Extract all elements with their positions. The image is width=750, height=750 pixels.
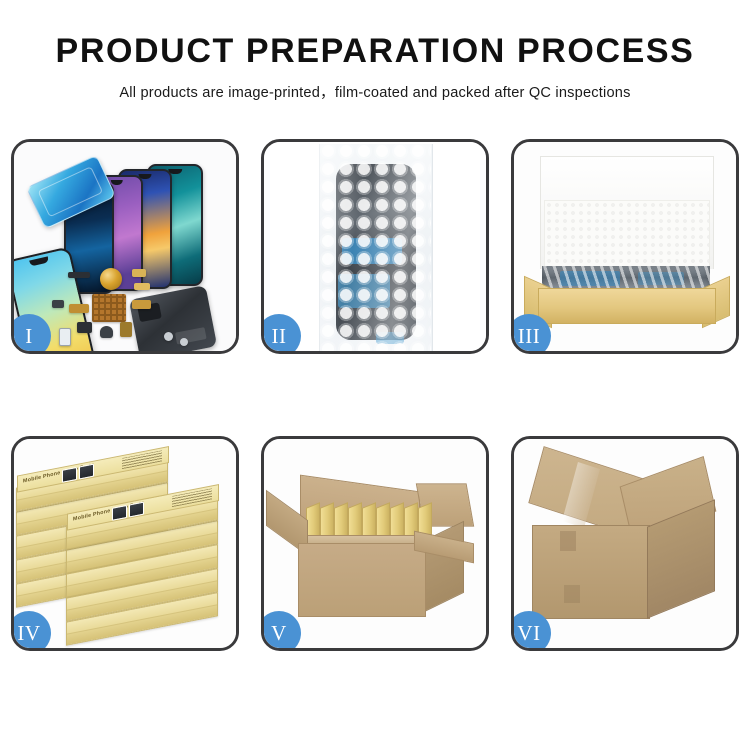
connector-grid-icon bbox=[92, 294, 126, 322]
process-step-panel-3[interactable]: III bbox=[511, 139, 739, 354]
plastic-sheen bbox=[319, 142, 431, 351]
carton-front-face bbox=[532, 525, 650, 619]
page-header: PRODUCT PREPARATION PROCESS All products… bbox=[0, 0, 750, 102]
spare-part-icon bbox=[52, 300, 64, 308]
carton-front-panel bbox=[298, 543, 426, 617]
bubble-wrapped-part-image bbox=[264, 142, 486, 351]
copper-coil-icon bbox=[100, 268, 122, 290]
spare-part-icon bbox=[120, 322, 132, 337]
step-badge-1: I bbox=[11, 314, 51, 354]
phone-graphic-icon bbox=[112, 505, 127, 521]
stacked-retail-boxes-image: Mobile Phone Spare Parts Mobile Phone Sp… bbox=[14, 439, 236, 648]
spare-part-icon bbox=[134, 283, 150, 290]
spare-part-icon bbox=[77, 322, 92, 333]
phone-graphic-icon bbox=[79, 464, 94, 480]
spare-part-icon bbox=[69, 304, 89, 313]
carton-flap-seam bbox=[560, 531, 576, 551]
spare-part-icon bbox=[132, 269, 146, 277]
step-badge-2: II bbox=[261, 314, 301, 354]
phone-graphic-icon bbox=[129, 502, 144, 518]
open-shipping-carton-image bbox=[264, 439, 486, 648]
process-step-panel-4[interactable]: Mobile Phone Spare Parts Mobile Phone Sp… bbox=[11, 436, 239, 651]
step-badge-4: IV bbox=[11, 611, 51, 651]
spare-part-icon bbox=[68, 272, 90, 278]
process-steps-grid: I II III bbox=[11, 139, 739, 651]
phone-graphic-icon bbox=[62, 467, 77, 483]
open-inner-box-image bbox=[514, 142, 736, 351]
spare-part-icon bbox=[100, 326, 113, 338]
step-badge-5: V bbox=[261, 611, 301, 651]
process-step-panel-1[interactable]: I bbox=[11, 139, 239, 354]
box-front-panel bbox=[538, 288, 716, 324]
screw-icon bbox=[164, 332, 173, 341]
process-step-panel-6[interactable]: VI bbox=[511, 436, 739, 651]
page-title: PRODUCT PREPARATION PROCESS bbox=[0, 34, 750, 68]
screw-icon bbox=[180, 338, 188, 346]
step-badge-6: VI bbox=[511, 611, 551, 651]
carton-flap-seam bbox=[564, 585, 580, 603]
phone-parts-collage-image bbox=[14, 142, 236, 351]
sealed-shipping-carton-image bbox=[514, 439, 736, 648]
foam-lining bbox=[544, 200, 710, 274]
step-badge-3: III bbox=[511, 314, 551, 354]
process-step-panel-2[interactable]: II bbox=[261, 139, 489, 354]
page-subtitle: All products are image-printed，film-coat… bbox=[0, 81, 750, 102]
spare-part-icon bbox=[59, 328, 71, 346]
spare-part-icon bbox=[132, 300, 151, 309]
process-step-panel-5[interactable]: V bbox=[261, 436, 489, 651]
